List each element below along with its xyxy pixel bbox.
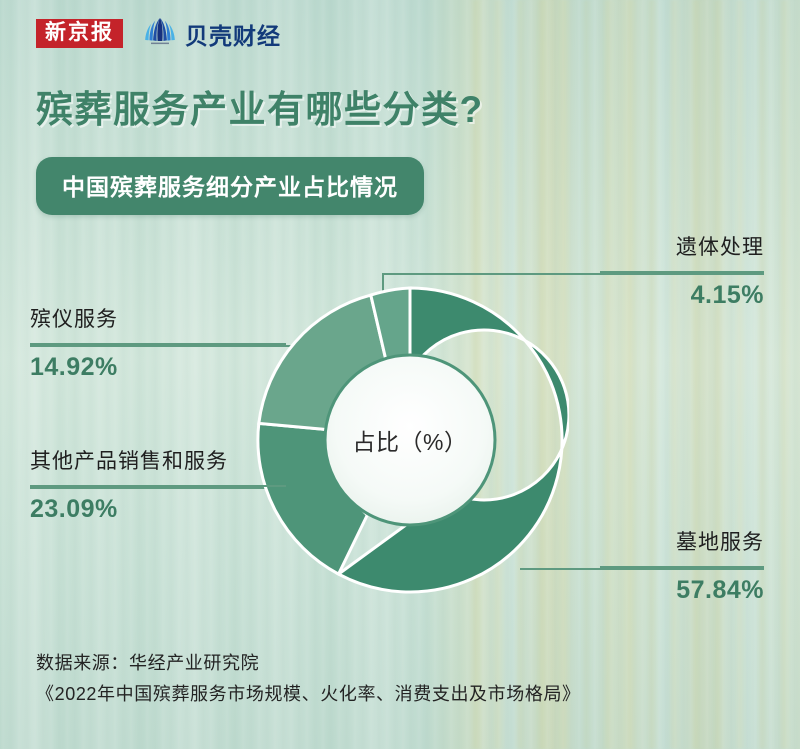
callout-name: 其他产品销售和服务 [30,450,286,474]
callout-name: 墓地服务 [600,531,764,555]
source-line-2: 《2022年中国殡葬服务市场规模、火化率、消费支出及市场格局》 [36,679,581,710]
infographic-canvas: 新京报 贝壳财经 殡葬服务产业有哪 [0,0,800,749]
callout-value: 14.92% [30,354,286,382]
header-logos: 新京报 贝壳财经 [36,16,281,51]
callout-rule [30,343,286,345]
callout-other-products-services[interactable]: 其他产品销售和服务 23.09% [30,450,286,524]
subtitle-badge: 中国殡葬服务细分产业占比情况 [36,157,424,215]
source-line-1: 数据来源：华经产业研究院 [36,648,581,679]
callout-rule [600,271,764,273]
callout-cemetery-service[interactable]: 墓地服务 57.84% [600,531,764,605]
callout-body-handling[interactable]: 遗体处理 4.15% [600,236,764,310]
beike-finance-logo: 贝壳财经 [142,16,281,51]
callout-rule [30,485,286,487]
beijing-news-logo: 新京报 [36,19,123,49]
callout-name: 遗体处理 [600,236,764,260]
callout-rule [600,566,764,568]
source-note: 数据来源：华经产业研究院 《2022年中国殡葬服务市场规模、火化率、消费支出及市… [36,648,581,710]
callout-value: 57.84% [600,577,764,605]
beike-finance-label: 贝壳财经 [185,17,281,51]
shell-fan-icon [142,16,178,51]
donut-chart: 占比（%） [251,281,569,599]
callout-value: 23.09% [30,496,286,524]
page-title: 殡葬服务产业有哪些分类? [36,79,484,133]
callout-funeral-service[interactable]: 殡仪服务 14.92% [30,308,286,382]
callout-value: 4.15% [600,282,764,310]
callout-name: 殡仪服务 [30,308,286,332]
